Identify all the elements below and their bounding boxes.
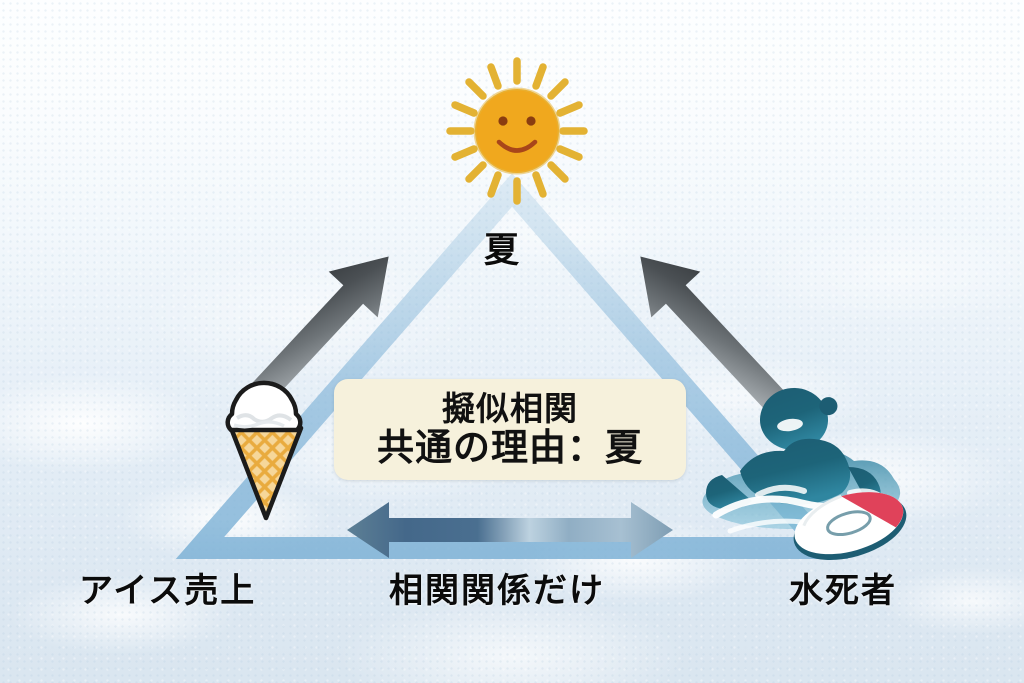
edge-label-correlation-only: 相関関係だけ xyxy=(389,563,605,612)
spurious-correlation-callout: 擬似相関 共通の理由：夏 xyxy=(334,379,686,480)
ice-cream-cone-icon xyxy=(218,378,314,523)
node-label-summer: 夏 xyxy=(484,222,520,273)
node-label-drowning-deaths: 水死者 xyxy=(789,563,897,612)
callout-line-1: 擬似相関 xyxy=(442,391,578,427)
arrow-correlation-bidirectional xyxy=(345,498,675,562)
drowning-swimmer-icon xyxy=(700,375,926,560)
diagram-canvas: 擬似相関 共通の理由：夏 夏 アイス売上 相関関係だけ 水死者 xyxy=(0,0,1024,683)
sun-icon xyxy=(437,55,597,205)
node-label-ice-cream-sales: アイス売上 xyxy=(79,563,256,612)
callout-line-2: 共通の理由：夏 xyxy=(377,428,643,468)
